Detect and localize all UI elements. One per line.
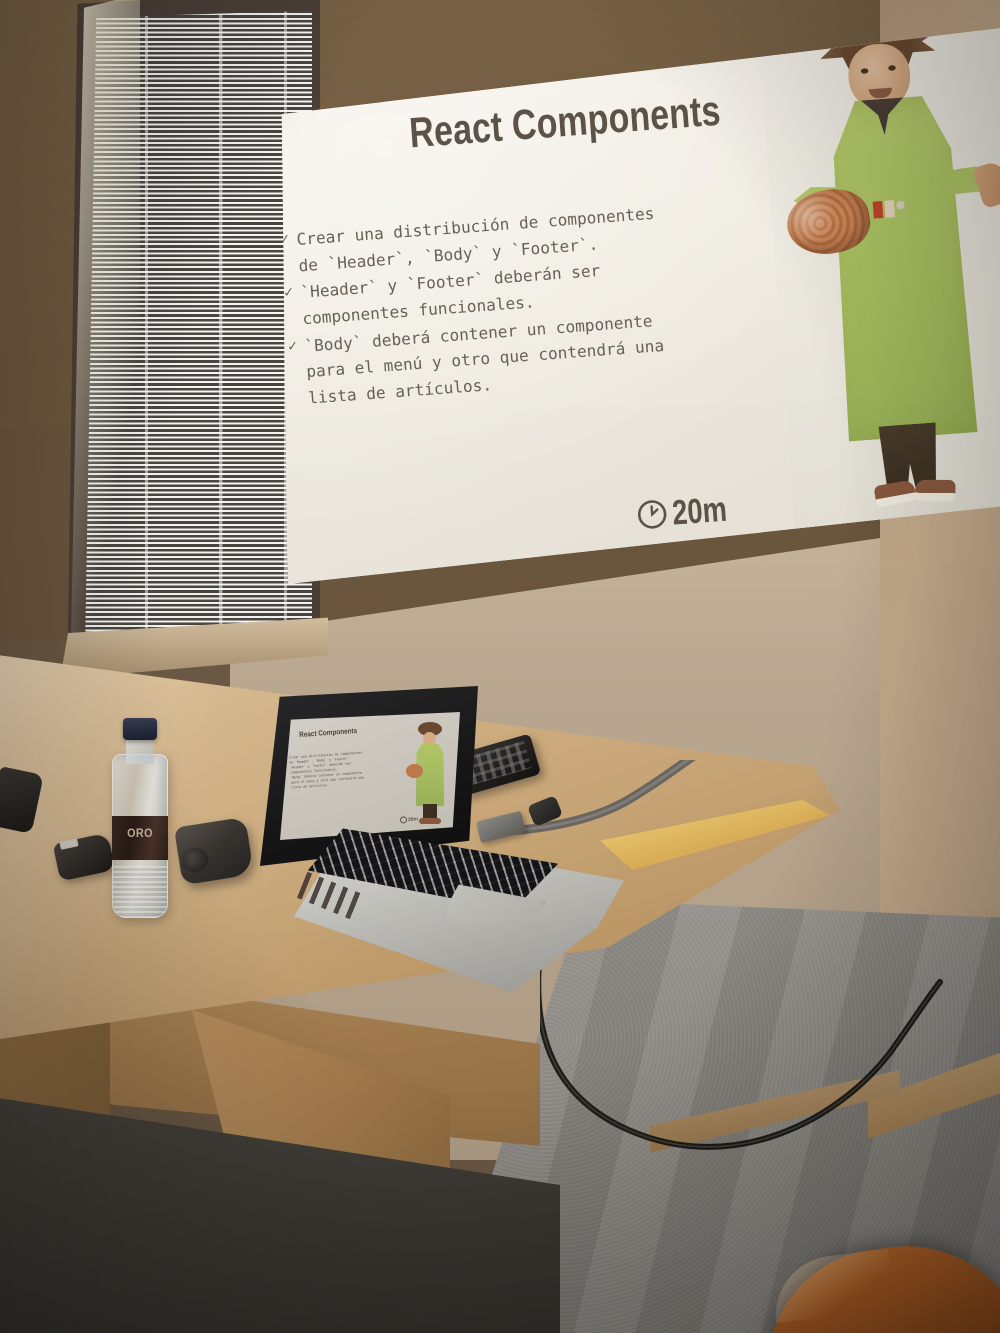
photo-scene: React Components ✓ Crear una distribució… [0, 0, 1000, 1333]
timer-label: 20m [671, 489, 728, 533]
mini-scientist-image [406, 720, 454, 830]
bottle-ribs [113, 866, 167, 918]
laptop-screen[interactable]: React Components Crear una distribución … [280, 712, 460, 840]
mini-shoes [419, 818, 441, 824]
coat-badge-white [884, 200, 895, 218]
mad-scientist-image [756, 28, 1000, 584]
mini-slide-title: React Components [299, 726, 358, 739]
slide-timer: 20m [635, 488, 744, 536]
mini-slide-lines: Crear una distribución de componentes de… [289, 748, 395, 790]
mini-timer: 20m [400, 815, 418, 823]
bottle-cap[interactable] [123, 718, 157, 740]
mini-timer-label: 20m [408, 816, 418, 823]
scientist-hand-right [972, 160, 1000, 210]
clock-icon [635, 497, 669, 531]
mini-clock-icon [400, 816, 407, 823]
scientist-lab-coat [819, 93, 983, 442]
slide-bullet-list: ✓ Crear una distribución de componentes … [279, 192, 789, 414]
coat-badge-red [873, 201, 884, 219]
scientist-shoe-right [915, 480, 956, 502]
slide-surface: React Components ✓ Crear una distribució… [276, 28, 1000, 584]
water-bottle[interactable]: ORO [104, 718, 176, 918]
mini-face [423, 732, 436, 746]
scientist-shoe-left [873, 479, 916, 507]
bottle-brand-text: ORO [115, 826, 165, 840]
bottle-neck [126, 736, 154, 764]
mini-brain [406, 764, 423, 778]
projection-screen: React Components ✓ Crear una distribució… [276, 28, 1000, 584]
